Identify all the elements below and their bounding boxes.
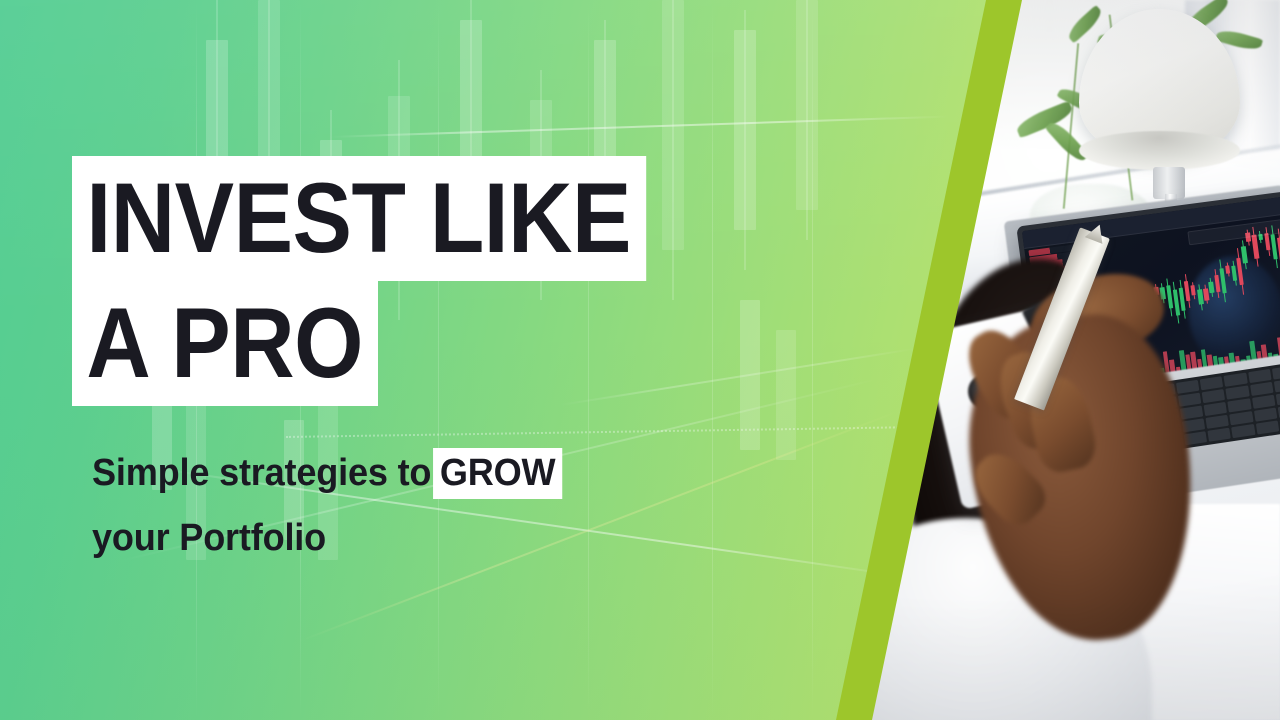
headline-line-2: A PRO <box>72 281 378 406</box>
subtitle-highlight-grow: GROW <box>433 448 562 499</box>
headline-line-1: INVEST LIKE <box>72 156 646 281</box>
subtitle-block: Simple strategies toGROW your Portfolio <box>92 444 562 567</box>
subtitle-lead: Simple strategies to <box>92 452 431 494</box>
subtitle-line-2: your Portfolio <box>92 509 562 567</box>
promo-banner: INVEST LIKE A PRO Simple strategies toGR… <box>0 0 1280 720</box>
